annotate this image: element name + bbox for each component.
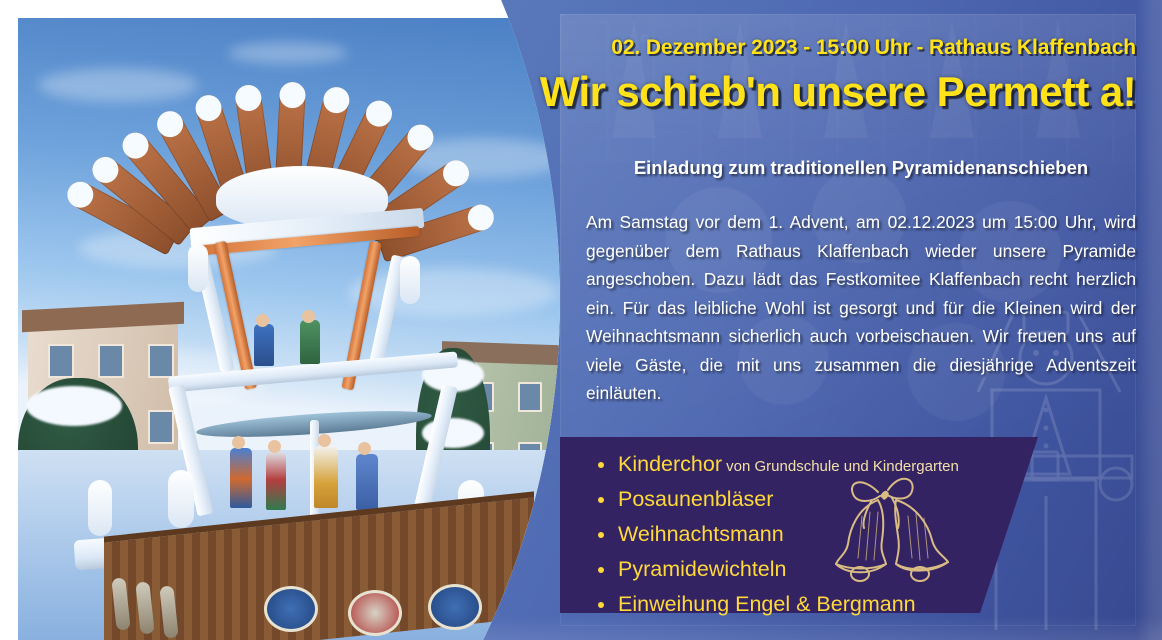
list-item: Einweihung Engel & Bergmann: [590, 588, 1060, 623]
poster-canvas: 02. Dezember 2023 - 15:00 Uhr - Rathaus …: [0, 0, 1162, 640]
event-kicker: 02. Dezember 2023 - 15:00 Uhr - Rathaus …: [611, 36, 1136, 60]
christmas-bells-icon: [822, 470, 964, 582]
page-title: Wir schieb'n unsere Permett a!: [540, 68, 1136, 116]
pyramid-photo: [0, 0, 600, 640]
program-item-label: Einweihung Engel & Bergmann: [618, 592, 916, 616]
program-item-label: Posaunenbläser: [618, 487, 773, 511]
program-item-label: Kinderchor: [618, 452, 722, 476]
christmas-pyramid: [18, 18, 600, 640]
body-text: Am Samstag vor dem 1. Advent, am 02.12.2…: [586, 208, 1136, 408]
program-item-label: Pyramidewichteln: [618, 557, 786, 581]
program-item-label: Weihnachtsmann: [618, 522, 784, 546]
subheadline: Einladung zum traditionellen Pyramidenan…: [586, 157, 1136, 179]
photo-image: [18, 18, 600, 640]
